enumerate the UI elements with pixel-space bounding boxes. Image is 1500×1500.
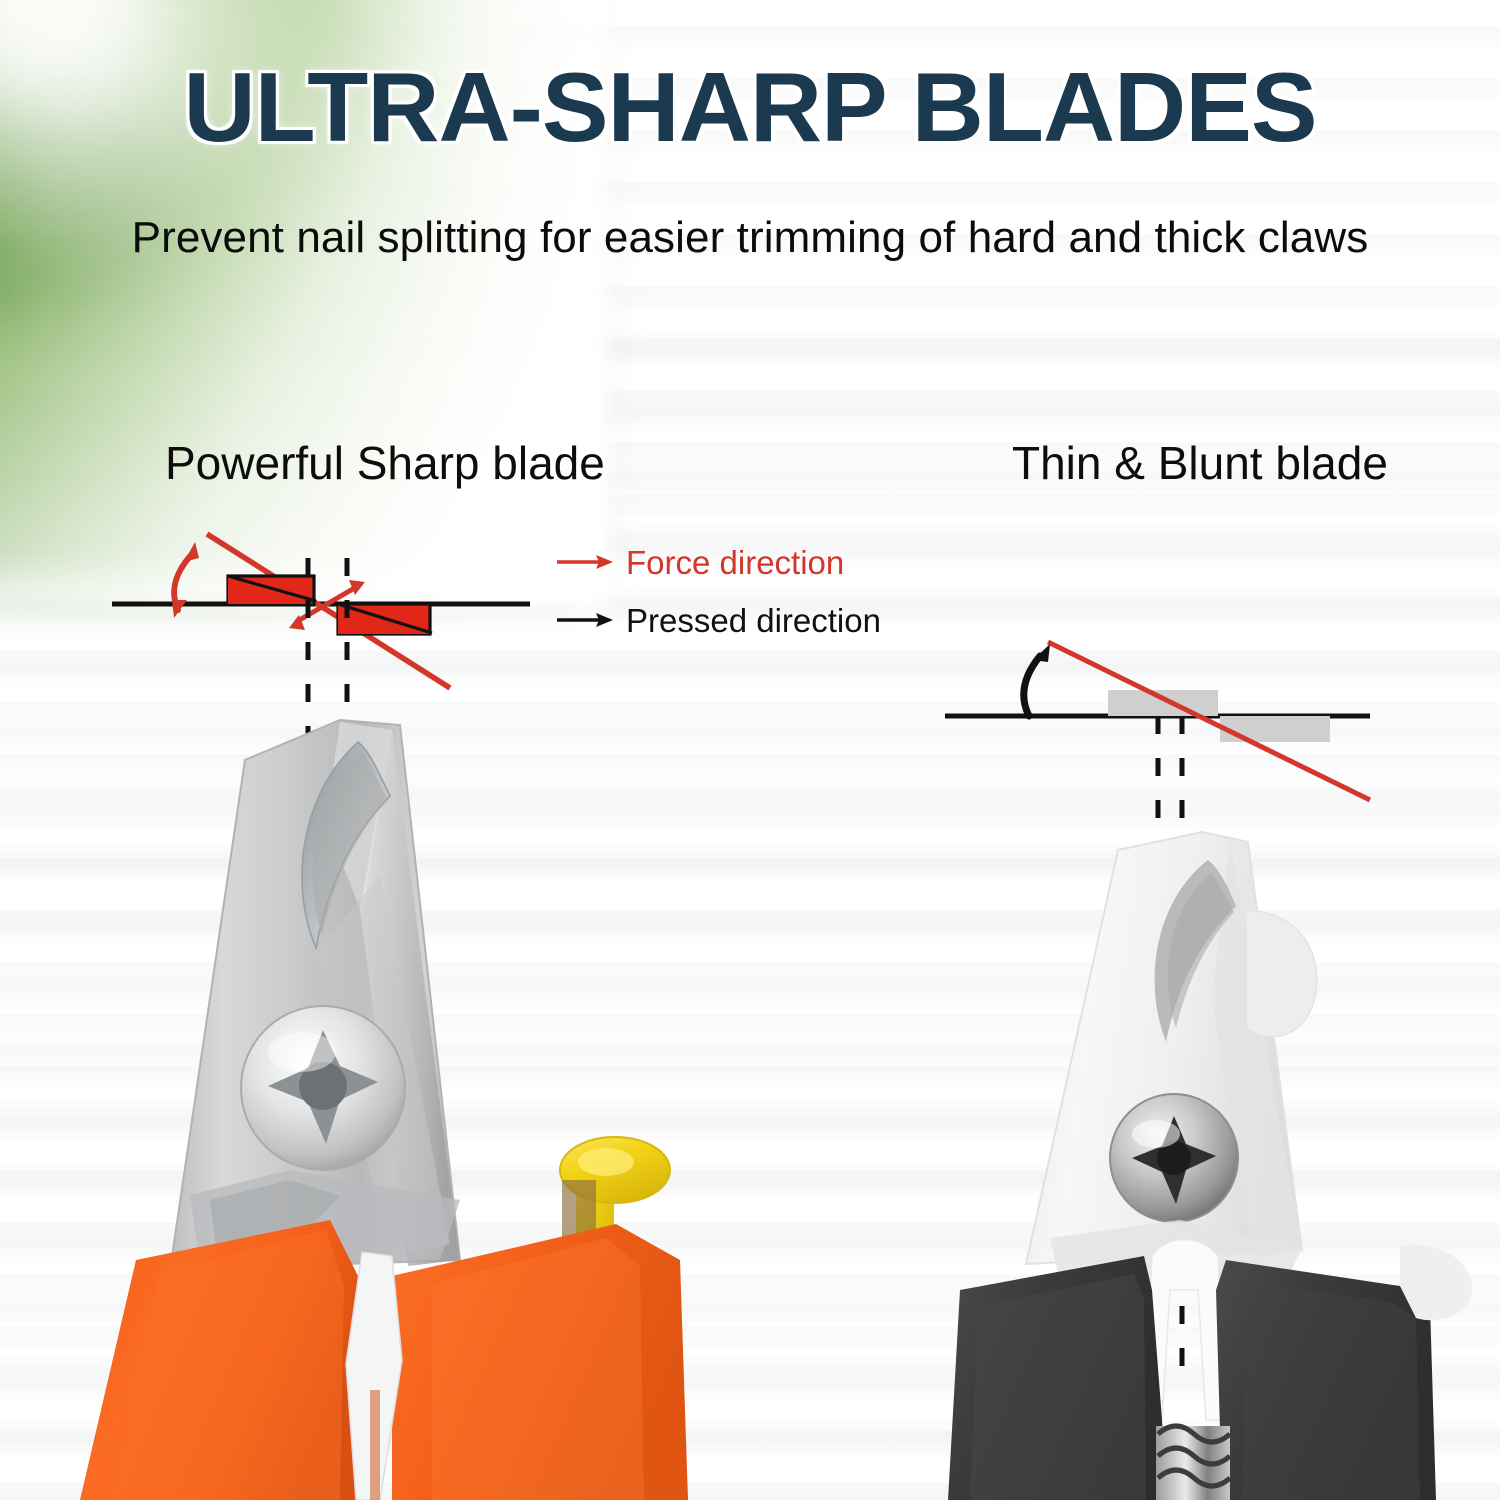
legend-label-force: Force direction <box>626 546 844 579</box>
page-subtitle: Prevent nail splitting for easier trimmi… <box>0 214 1500 262</box>
legend-label-pressed: Pressed direction <box>626 604 881 637</box>
blade-side-lobe <box>1246 910 1317 1037</box>
panel-heading-right: Thin & Blunt blade <box>1012 440 1388 486</box>
panel-heading-left: Powerful Sharp blade <box>165 440 605 486</box>
product-photo-blunt-clipper <box>930 820 1500 1500</box>
infographic-canvas: ULTRA-SHARP BLADES Prevent nail splittin… <box>0 0 1500 1500</box>
product-photo-sharp-clipper <box>40 700 720 1500</box>
angle-arc-arrow <box>1024 644 1050 716</box>
legend: Force direction Pressed direction <box>556 540 881 656</box>
blade-wedge-upper <box>228 576 316 604</box>
page-title: ULTRA-SHARP BLADES <box>0 58 1500 156</box>
legend-item-force: Force direction <box>556 540 881 584</box>
blunt-block-lower <box>1220 716 1330 742</box>
spring-coil <box>1156 1426 1230 1500</box>
legend-item-pressed: Pressed direction <box>556 598 881 642</box>
blade-wedge-lower <box>338 604 432 634</box>
angle-arc-arrow <box>172 542 199 618</box>
blunt-block-upper <box>1108 690 1218 716</box>
